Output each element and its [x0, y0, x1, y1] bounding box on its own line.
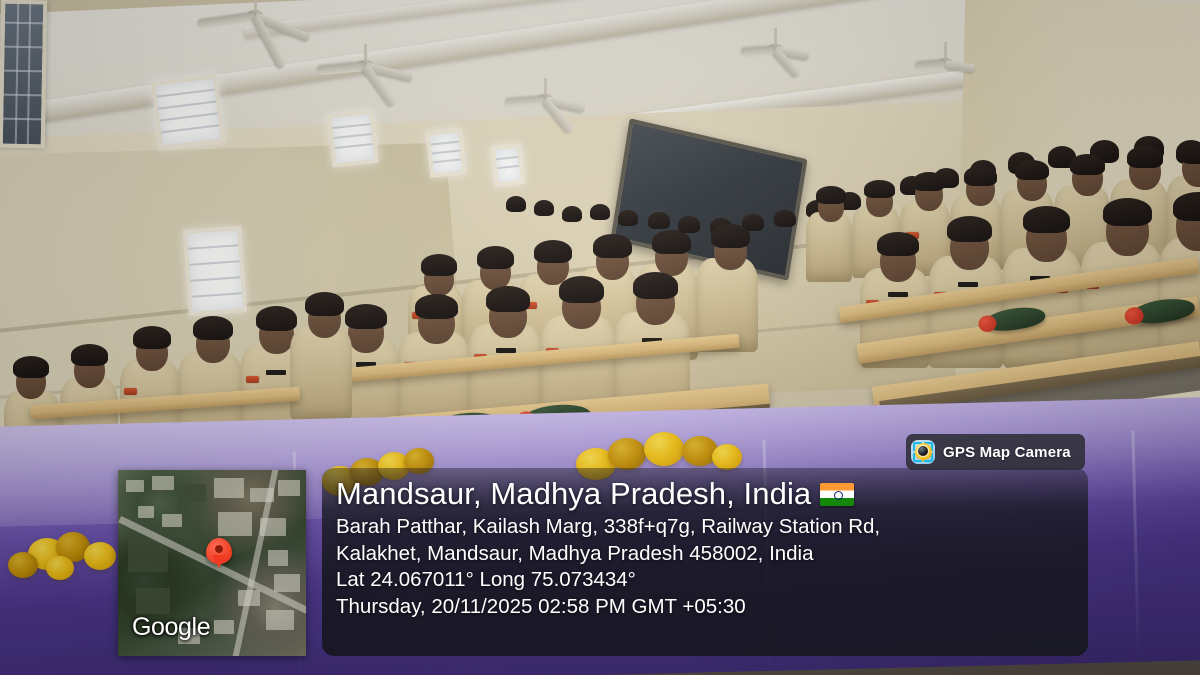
map-pin-icon [206, 538, 232, 564]
gps-map-camera-badge[interactable]: GPS Map Camera [906, 434, 1085, 470]
gps-map-camera-icon [911, 440, 935, 464]
timestamp-line: Thursday, 20/11/2025 02:58 PM GMT +05:30 [336, 594, 1096, 621]
location-title-row: Mandsaur, Madhya Pradesh, India [336, 474, 1096, 514]
google-logo: Google [132, 613, 210, 642]
coordinates-line: Lat 24.067011° Long 75.073434° [336, 567, 1096, 594]
address-line-1: Barah Patthar, Kailash Marg, 338f+q7g, R… [336, 514, 1096, 541]
address-line-2: Kalakhet, Mandsaur, Madhya Pradesh 45800… [336, 541, 1096, 568]
location-title: Mandsaur, Madhya Pradesh, India [336, 474, 811, 514]
india-flag-icon [820, 483, 854, 506]
screenshot-root: GPS Map Camera Google Mandsaur, Madhya P… [0, 0, 1200, 675]
location-info-text: Mandsaur, Madhya Pradesh, India Barah Pa… [336, 474, 1096, 620]
gps-map-camera-label: GPS Map Camera [943, 444, 1071, 461]
map-thumbnail[interactable]: Google [118, 470, 306, 656]
